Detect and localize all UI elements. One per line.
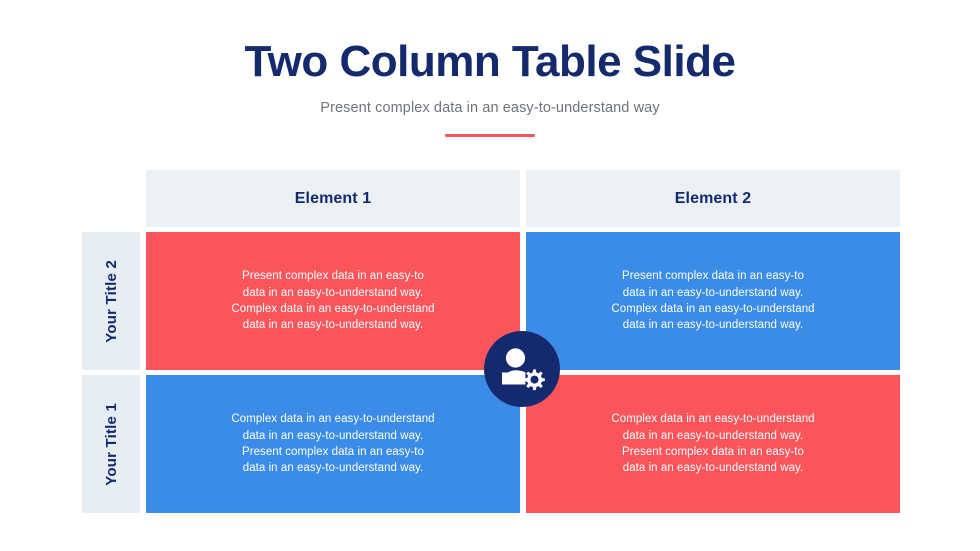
page-title: Two Column Table Slide	[0, 38, 980, 86]
table-cell-r1c2: Present complex data in an easy-to data …	[526, 232, 900, 370]
row-label-your-title-2: Your Title 2	[82, 232, 140, 370]
row-label-text: Your Title 1	[103, 403, 120, 486]
table-cell-r1c1: Present complex data in an easy-to data …	[146, 232, 520, 370]
column-header-label: Element 2	[675, 190, 752, 208]
column-header-element-1: Element 1	[146, 170, 520, 227]
cell-text: Complex data in an easy-to-understand da…	[611, 411, 814, 476]
column-header-element-2: Element 2	[526, 170, 900, 227]
cell-text: Complex data in an easy-to-understand da…	[231, 411, 434, 476]
row-label-text: Your Title 2	[103, 260, 120, 343]
page-subtitle: Present complex data in an easy-to-under…	[0, 100, 980, 116]
slide-header: Two Column Table Slide Present complex d…	[0, 38, 980, 137]
table-row: Your Title 1 Complex data in an easy-to-…	[82, 375, 900, 513]
center-badge	[484, 331, 560, 407]
cell-text: Present complex data in an easy-to data …	[611, 268, 814, 333]
row-label-your-title-1: Your Title 1	[82, 375, 140, 513]
table-cell-r2c2: Complex data in an easy-to-understand da…	[526, 375, 900, 513]
two-column-table: Element 1 Element 2 Your Title 2 Present…	[82, 170, 900, 508]
table-cell-r2c1: Complex data in an easy-to-understand da…	[146, 375, 520, 513]
table-header-row: Element 1 Element 2	[82, 170, 900, 227]
column-header-label: Element 1	[295, 190, 372, 208]
slide-canvas: Two Column Table Slide Present complex d…	[0, 0, 980, 551]
accent-divider	[445, 134, 535, 137]
corner-spacer	[82, 170, 140, 227]
user-settings-icon	[499, 347, 545, 391]
cell-text: Present complex data in an easy-to data …	[231, 268, 434, 333]
